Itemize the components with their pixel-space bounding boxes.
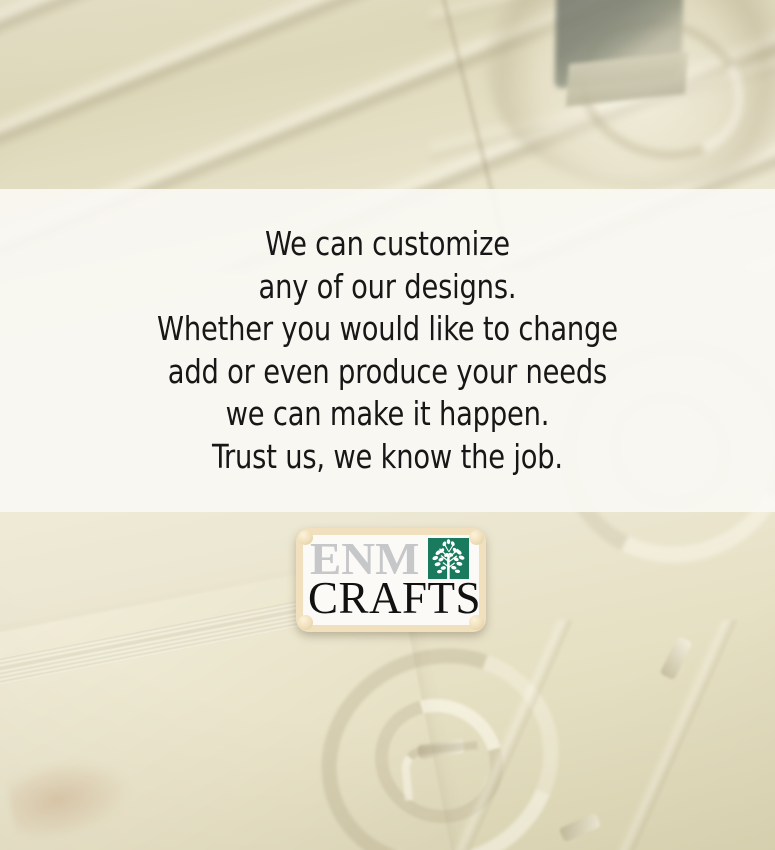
headline-line-5: we can make it happen. <box>157 393 618 436</box>
brand-logo[interactable]: ENM <box>296 528 486 632</box>
carved-grooves-bottom <box>430 620 775 850</box>
headline-line-2: any of our designs. <box>157 266 618 309</box>
headline-line-1: We can customize <box>157 223 618 266</box>
headline-text: We can customize any of our designs. Whe… <box>139 223 637 478</box>
headline-line-6: Trust us, we know the job. <box>157 436 618 479</box>
headline-line-4: add or even produce your needs <box>157 351 618 394</box>
carved-hook-groove <box>399 741 482 801</box>
logo-wordmark-crafts: CRAFTS <box>308 576 474 621</box>
headline-line-3: Whether you would like to change <box>157 308 618 351</box>
promo-banner: We can customize any of our designs. Whe… <box>0 0 775 850</box>
message-panel: We can customize any of our designs. Whe… <box>0 189 775 512</box>
